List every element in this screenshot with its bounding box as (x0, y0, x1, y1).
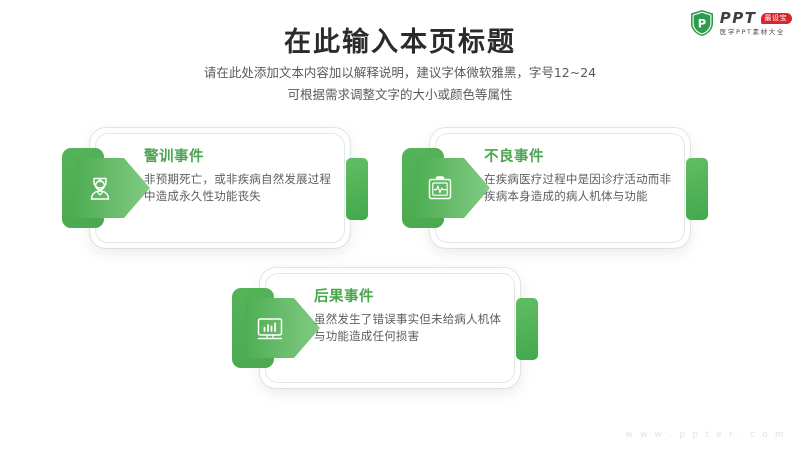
card-warning-event[interactable]: 警训事件 非预期死亡，或非疾病自然发展过程 中造成永久性功能丧失 (62, 128, 350, 248)
card-description: 非预期死亡，或非疾病自然发展过程 中造成永久性功能丧失 (144, 171, 334, 206)
card-description-line-1: 虽然发生了错误事实但未给病人机体 (314, 311, 504, 328)
card-description: 在疾病医疗过程中是因诊疗活动而非 疾病本身造成的病人机体与功能 (484, 171, 674, 206)
monitor-barchart-icon (250, 308, 290, 348)
doctor-icon (80, 168, 120, 208)
card-description-line-1: 非预期死亡，或非疾病自然发展过程 (144, 171, 334, 188)
page-subtitle-line-1: 请在此处添加文本内容加以解释说明，建议字体微软雅黑，字号12~24 (0, 62, 800, 84)
card-description-line-2: 中造成永久性功能丧失 (144, 188, 334, 205)
card-description-line-2: 与功能造成任何损害 (314, 328, 504, 345)
card-title: 警训事件 (144, 150, 334, 166)
card-text-block: 后果事件 虽然发生了错误事实但未给病人机体 与功能造成任何损害 (314, 290, 504, 345)
slide-canvas: P PPT 最设宝 医学PPT素材大全 在此输入本页标题 请在此处添加文本内容加… (0, 0, 800, 450)
clipboard-ecg-icon (420, 168, 460, 208)
page-subtitle: 请在此处添加文本内容加以解释说明，建议字体微软雅黑，字号12~24 可根据需求调… (0, 62, 800, 106)
page-subtitle-line-2: 可根据需求调整文字的大小或颜色等属性 (0, 84, 800, 106)
page-title: 在此输入本页标题 (0, 20, 800, 59)
card-right-tab (346, 158, 368, 220)
card-text-block: 警训事件 非预期死亡，或非疾病自然发展过程 中造成永久性功能丧失 (144, 150, 334, 205)
card-description-line-1: 在疾病医疗过程中是因诊疗活动而非 (484, 171, 674, 188)
card-right-tab (686, 158, 708, 220)
site-watermark: w w w . p p t e r . c o m (625, 430, 786, 440)
card-description: 虽然发生了错误事实但未给病人机体 与功能造成任何损害 (314, 311, 504, 346)
card-text-block: 不良事件 在疾病医疗过程中是因诊疗活动而非 疾病本身造成的病人机体与功能 (484, 150, 674, 205)
card-title: 后果事件 (314, 290, 504, 306)
card-description-line-2: 疾病本身造成的病人机体与功能 (484, 188, 674, 205)
card-adverse-event[interactable]: 不良事件 在疾病医疗过程中是因诊疗活动而非 疾病本身造成的病人机体与功能 (402, 128, 690, 248)
card-title: 不良事件 (484, 150, 674, 166)
card-consequence-event[interactable]: 后果事件 虽然发生了错误事实但未给病人机体 与功能造成任何损害 (232, 268, 520, 388)
card-right-tab (516, 298, 538, 360)
